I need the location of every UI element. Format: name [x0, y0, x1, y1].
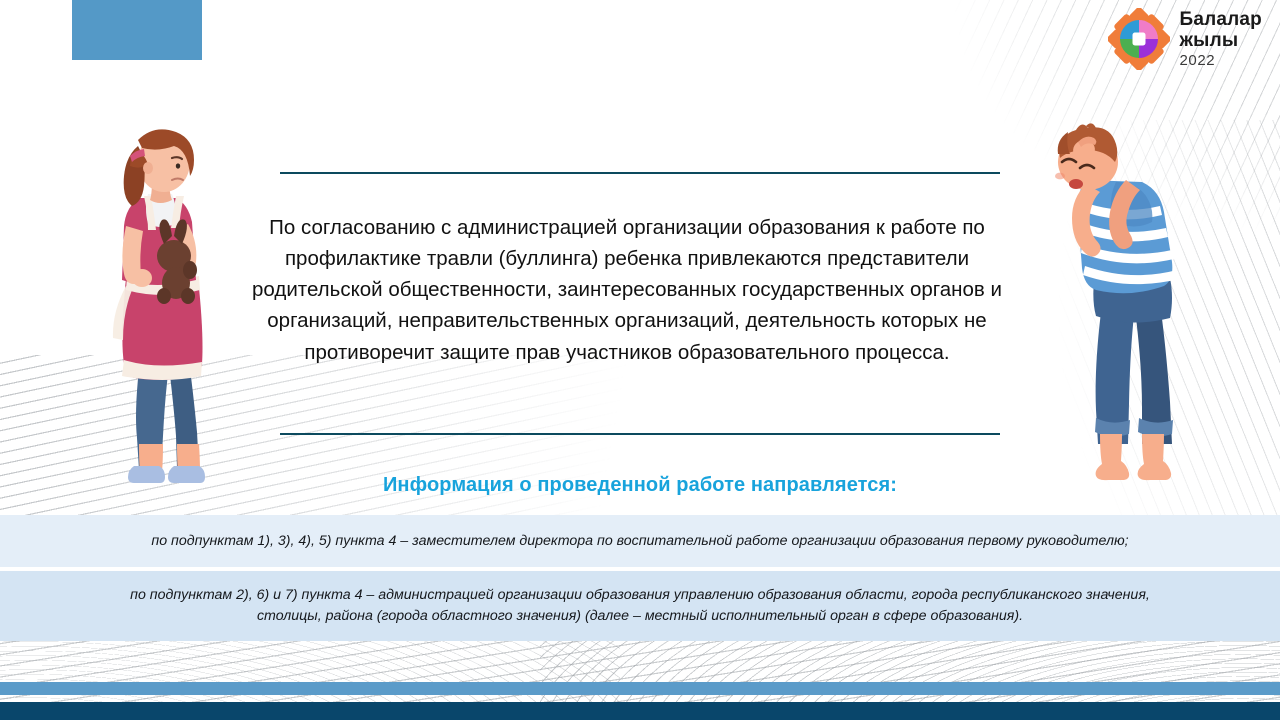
divider-rule-bottom	[280, 433, 1000, 435]
info-band-1: по подпунктам 1), 3), 4), 5) пункта 4 – …	[0, 515, 1280, 567]
header-accent-rectangle	[72, 0, 202, 60]
brand-logo: Балалар жылы 2022	[1108, 6, 1262, 72]
logo-year: 2022	[1179, 53, 1262, 68]
illustration-crying-boy	[1042, 122, 1194, 490]
flower-logo-icon	[1108, 8, 1170, 70]
illustration-sad-girl	[96, 128, 228, 488]
slide-canvas: Балалар жылы 2022 По согласованию с адми…	[0, 0, 1280, 720]
info-band-1-text: по подпунктам 1), 3), 4), 5) пункта 4 – …	[80, 531, 1200, 552]
footer-blue-stripe	[0, 682, 1280, 695]
logo-line-1: Балалар	[1179, 10, 1262, 29]
info-band-2: по подпунктам 2), 6) и 7) пункта 4 – адм…	[0, 571, 1280, 641]
info-band-2-text: по подпунктам 2), 6) и 7) пункта 4 – адм…	[118, 585, 1163, 626]
main-paragraph: По согласованию с администрацией организ…	[232, 212, 1022, 368]
logo-wordmark: Балалар жылы 2022	[1179, 10, 1262, 68]
divider-rule-top	[280, 172, 1000, 174]
logo-line-2: жылы	[1179, 31, 1262, 50]
footer-navy-bar	[0, 702, 1280, 720]
